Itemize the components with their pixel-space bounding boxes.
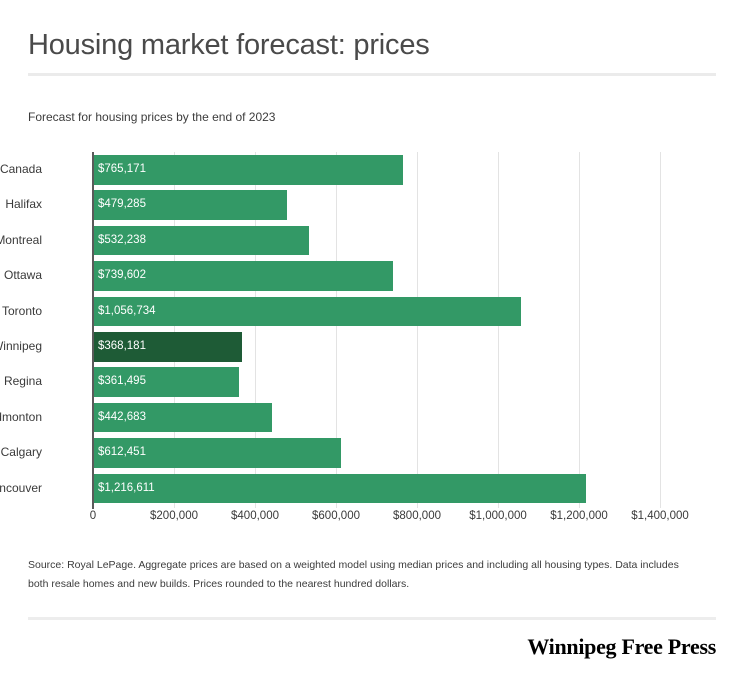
category-label: Montreal (0, 223, 42, 258)
footer-divider (28, 617, 716, 620)
x-tick-label: $1,400,000 (631, 510, 689, 522)
bar-row: Ottawa$739,602 (93, 258, 701, 293)
category-label: Winnipeg (0, 329, 42, 364)
category-label: Calgary (1, 435, 42, 470)
bar-value-label: $361,495 (98, 367, 146, 397)
bar-chart: Canada$765,171Halifax$479,285Montreal$53… (0, 146, 744, 526)
bar-row: Montreal$532,238 (93, 223, 701, 258)
x-tick-label: $800,000 (393, 510, 441, 522)
plot-area: Canada$765,171Halifax$479,285Montreal$53… (93, 152, 701, 508)
category-label: Toronto (2, 294, 42, 329)
bar-row: Vancouver$1,216,611 (93, 471, 701, 506)
bar-row: Canada$765,171 (93, 152, 701, 187)
bar[interactable] (93, 297, 521, 327)
bar-value-label: $479,285 (98, 190, 146, 220)
x-tick-label: 0 (90, 510, 96, 522)
bar-value-label: $368,181 (98, 332, 146, 362)
x-axis: 0$200,000$400,000$600,000$800,000$1,000,… (0, 508, 744, 530)
bar-value-label: $765,171 (98, 155, 146, 185)
page-title: Housing market forecast: prices (28, 27, 430, 63)
bar-value-label: $1,216,611 (98, 474, 155, 504)
x-tick-label: $400,000 (231, 510, 279, 522)
bar-row: Toronto$1,056,734 (93, 294, 701, 329)
x-tick-label: $1,000,000 (469, 510, 527, 522)
category-label: Edmonton (0, 400, 42, 435)
bar-value-label: $532,238 (98, 226, 146, 256)
category-label: Ottawa (4, 258, 42, 293)
x-tick-label: $200,000 (150, 510, 198, 522)
bar-value-label: $442,683 (98, 403, 146, 433)
source-note: Source: Royal LePage. Aggregate prices a… (28, 556, 688, 594)
bar-row: Calgary$612,451 (93, 435, 701, 470)
category-label: Regina (4, 364, 42, 399)
bar[interactable] (93, 474, 586, 504)
bar-row: Winnipeg$368,181 (93, 329, 701, 364)
category-label: Vancouver (0, 471, 42, 506)
bar-row: Regina$361,495 (93, 364, 701, 399)
infographic-page: Housing market forecast: prices Forecast… (0, 0, 744, 677)
publisher-logo: Winnipeg Free Press (527, 634, 716, 660)
bar-value-label: $612,451 (98, 438, 146, 468)
category-label: Canada (0, 152, 42, 187)
bar-row: Edmonton$442,683 (93, 400, 701, 435)
bar-value-label: $739,602 (98, 261, 146, 291)
bar-row: Halifax$479,285 (93, 187, 701, 222)
x-tick-label: $1,200,000 (550, 510, 608, 522)
chart-subtitle: Forecast for housing prices by the end o… (28, 109, 275, 125)
x-tick-label: $600,000 (312, 510, 360, 522)
y-axis-line (92, 152, 94, 509)
category-label: Halifax (5, 187, 42, 222)
bar-value-label: $1,056,734 (98, 297, 156, 327)
header-divider (28, 73, 716, 76)
